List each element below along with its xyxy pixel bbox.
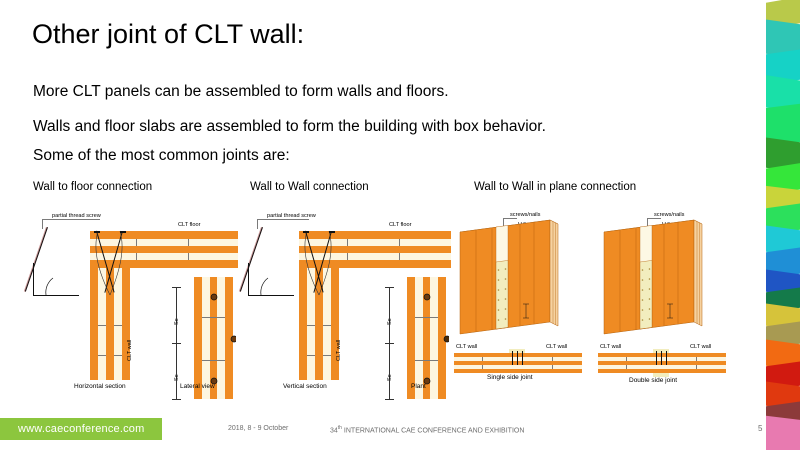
figure-wall-to-floor: partial thread screw CLT floor CLT wall — [28, 205, 228, 380]
body-line-2: Walls and floor slabs are assembled to f… — [33, 117, 546, 137]
isometric-wall-double — [598, 218, 710, 344]
footer-page-number: 5 — [758, 424, 762, 433]
figure1-wall-label: CLT wall — [127, 340, 133, 361]
screw-curve-icon — [297, 229, 343, 299]
section-heading-wall-to-wall: Wall to Wall connection — [250, 181, 369, 193]
figure2-dim-2: Sc — [387, 374, 393, 381]
angle-arc-icon — [42, 273, 72, 297]
colorbar-segment — [766, 415, 800, 450]
figure2-dim-1: Sc — [387, 318, 393, 325]
figure2-wall-label: CLT wall — [336, 340, 342, 361]
slide: Other joint of CLT wall: More CLT panels… — [0, 0, 800, 450]
footer-conference-title: INTERNATIONAL CAE CONFERENCE AND EXHIBIT… — [342, 427, 524, 434]
figure-double-side-joint: screws/nails LVL strip — [596, 206, 748, 382]
figure4-wall-left-label: CLT wall — [600, 344, 621, 350]
figure4-caption: Double side joint — [629, 377, 677, 384]
isometric-wall-single — [454, 218, 566, 344]
footer-conference: 34th INTERNATIONAL CAE CONFERENCE AND EX… — [330, 425, 524, 434]
section-heading-wall-to-wall-in-plane: Wall to Wall in plane connection — [474, 181, 636, 193]
angle-arc-icon — [257, 273, 287, 297]
footer-url[interactable]: www.caeconference.com — [18, 423, 144, 435]
figure1-floor-label: CLT floor — [178, 222, 201, 228]
figure-single-side-joint: screws/nails LVL strip — [452, 206, 604, 382]
page-title: Other joint of CLT wall: — [32, 18, 304, 50]
body-line-1: More CLT panels can be assembled to form… — [33, 82, 449, 102]
decorative-color-strip — [766, 0, 800, 450]
figure-wall-to-wall: partial thread screw CLT floor CLT wall — [243, 205, 443, 380]
figure2-screw-label: partial thread screw — [267, 213, 316, 219]
figure3-caption: Single side joint — [487, 374, 533, 381]
screw-curve-icon — [88, 229, 134, 299]
footer-conference-number: 34 — [330, 427, 338, 434]
figure1-caption-right: Lateral view — [180, 383, 215, 390]
figure1-caption-left: Horizontal section — [74, 383, 126, 390]
figure3-wall-left-label: CLT wall — [456, 344, 477, 350]
figure1-screw-label: partial thread screw — [52, 213, 101, 219]
figure2-caption-right: Plant — [411, 383, 426, 390]
figure2-floor-label: CLT floor — [389, 222, 412, 228]
figure3-wall-right-label: CLT wall — [546, 344, 567, 350]
footer-date: 2018, 8 - 9 October — [228, 425, 288, 432]
body-line-3: Some of the most common joints are: — [33, 146, 290, 166]
figure1-dim-1: Sc — [174, 318, 180, 325]
figure1-dim-2: Sc — [174, 374, 180, 381]
figure4-wall-right-label: CLT wall — [690, 344, 711, 350]
figure2-caption-left: Vertical section — [283, 383, 327, 390]
section-heading-wall-to-floor: Wall to floor connection — [33, 181, 152, 193]
